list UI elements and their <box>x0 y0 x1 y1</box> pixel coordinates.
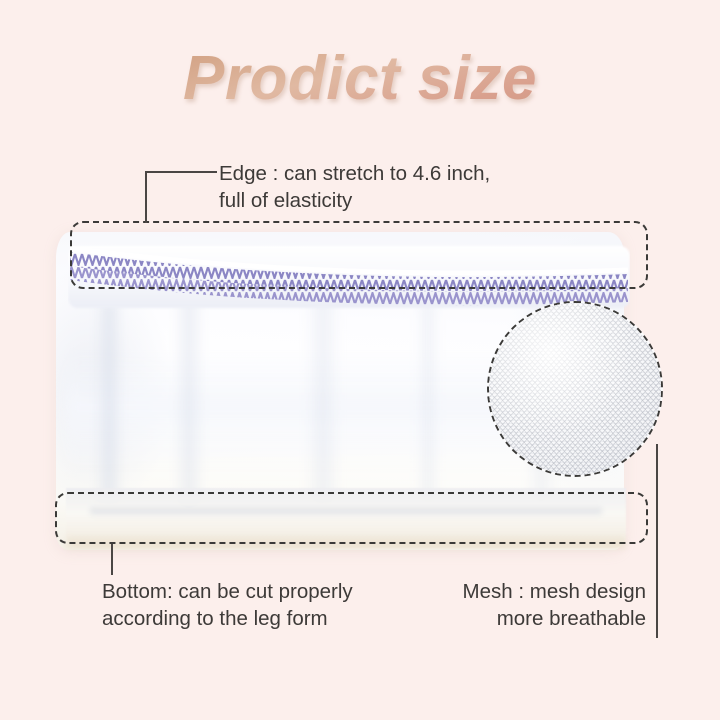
callout-box-edge <box>70 221 648 289</box>
mesh-gloss-highlight <box>489 303 663 477</box>
leader-line-bottom <box>111 544 113 575</box>
fabric-fold <box>96 302 122 502</box>
product-size-infographic: Prodict size <box>0 0 720 720</box>
fabric-fold <box>174 290 204 520</box>
leader-line-edge-vertical <box>145 172 147 223</box>
mesh-zoom-circle <box>487 301 663 477</box>
fabric-fold <box>306 294 340 504</box>
callout-label-mesh: Mesh : mesh design more breathable <box>463 578 646 632</box>
callout-box-bottom <box>55 492 648 544</box>
callout-label-edge: Edge : can stretch to 4.6 inch, full of … <box>219 160 490 214</box>
page-title: Prodict size <box>0 46 720 111</box>
leader-line-mesh <box>656 444 658 638</box>
leader-line-edge-horizontal <box>145 171 217 173</box>
fabric-fold <box>416 302 440 502</box>
callout-label-bottom: Bottom: can be cut properly according to… <box>102 578 353 632</box>
